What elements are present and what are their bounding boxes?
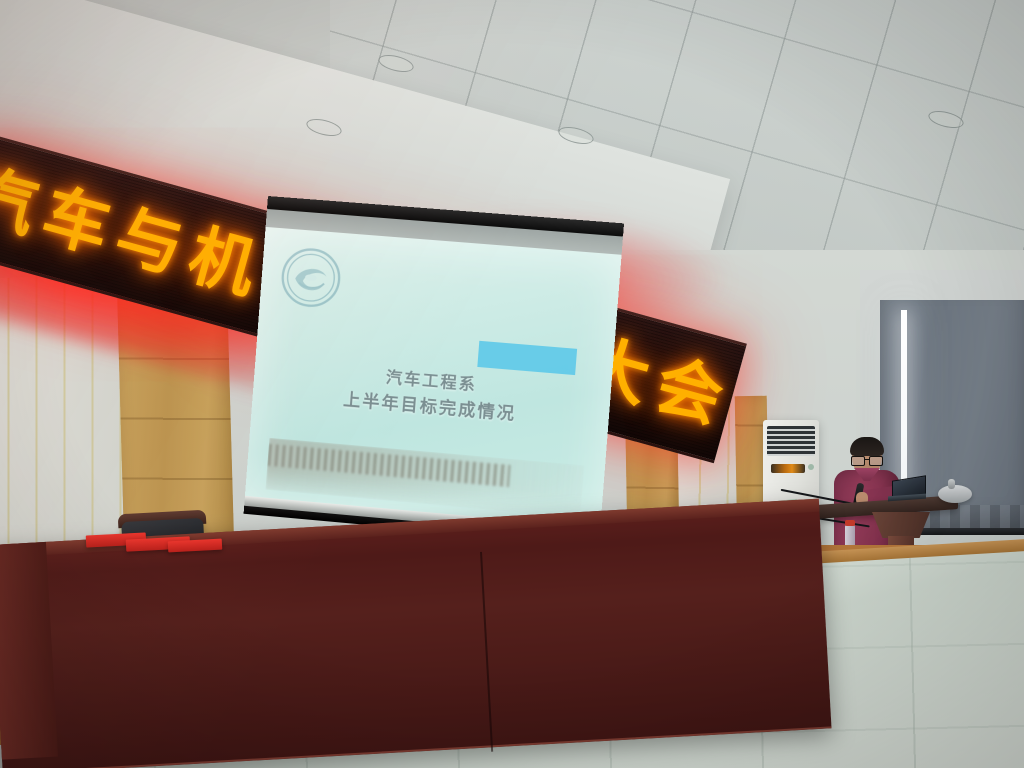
university-emblem-icon — [278, 244, 345, 311]
ac-indicator-icon — [808, 464, 814, 470]
laptop[interactable] — [888, 478, 926, 500]
podium-neck — [872, 512, 930, 538]
projection-screen: 汽车工程系 上半年目标完成情况 — [243, 196, 624, 557]
conference-hall-photo: 汽车与机 教职工大会 汽车工程系 上半年目标完成情况 — [0, 0, 1024, 768]
slide-accent-chip — [477, 341, 577, 375]
podium-lamp-neck — [948, 479, 955, 489]
ac-display-panel — [771, 464, 805, 473]
water-bottle-cap — [845, 520, 855, 526]
ac-vent-grille-icon — [767, 426, 815, 456]
speaker-hair — [850, 437, 884, 456]
glasses-icon — [851, 456, 883, 464]
screen-surface: 汽车工程系 上半年目标完成情况 — [245, 227, 622, 530]
podium-lamp[interactable] — [938, 485, 972, 503]
